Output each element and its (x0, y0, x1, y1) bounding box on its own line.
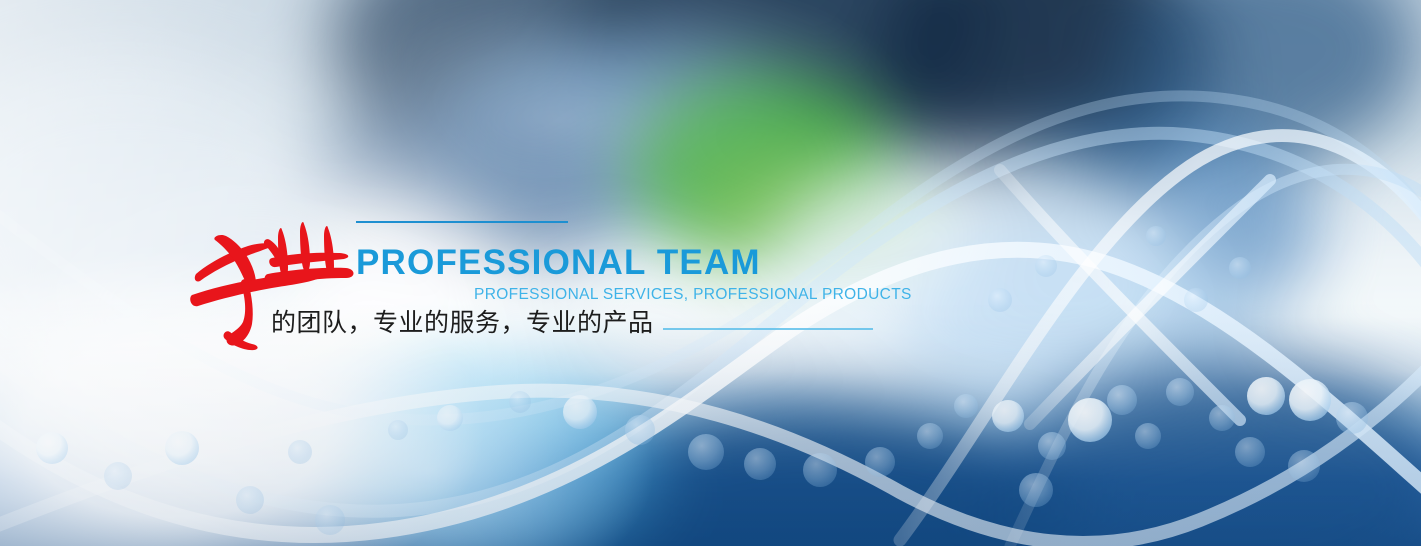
hero-banner: 专业 (0, 0, 1421, 546)
decorative-rule-bottom (663, 328, 873, 330)
banner-text-block: 专业 (0, 0, 1421, 546)
subtitle: PROFESSIONAL SERVICES, PROFESSIONAL PROD… (474, 286, 912, 304)
decorative-rule-top (356, 221, 568, 223)
tagline: 的团队，专业的服务，专业的产品 (271, 307, 654, 339)
page-title: PROFESSIONAL TEAM (356, 243, 761, 283)
